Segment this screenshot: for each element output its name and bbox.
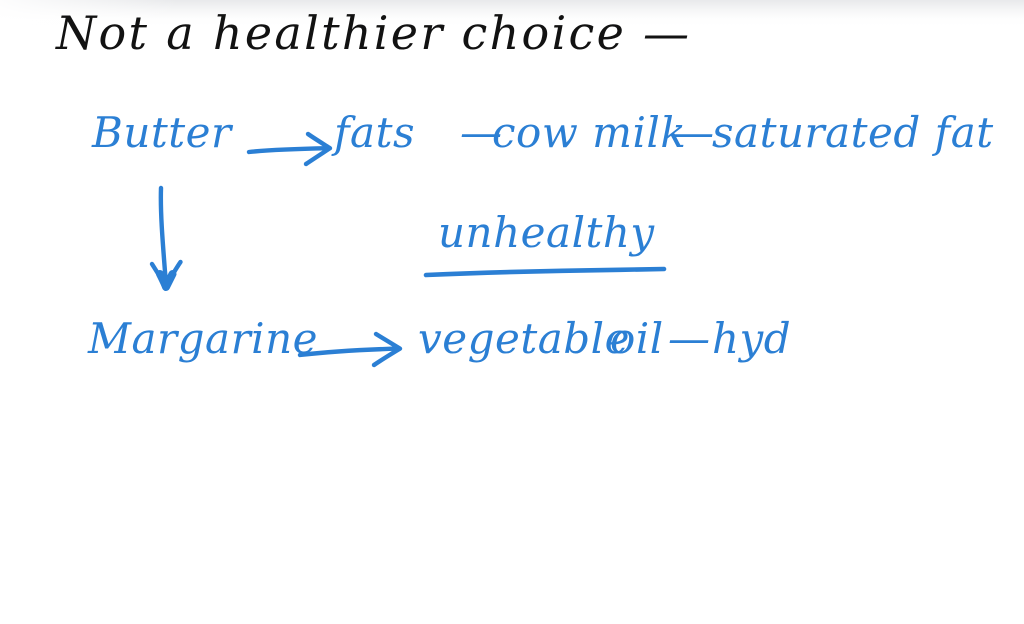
term-saturated-fat: saturated fat [712, 112, 994, 154]
page-title: Not a healthier choice — [56, 10, 691, 56]
term-butter: Butter [92, 112, 232, 154]
annotation-unhealthy: unhealthy [438, 212, 655, 254]
right-arrow-icon-butter [249, 134, 330, 164]
term-hyd: hyd [712, 318, 791, 360]
term-fats: fats [334, 112, 415, 154]
term-cow-milk: cow milk [492, 112, 686, 154]
handwritten-note-canvas: Not a healthier choice — Butter fats — c… [0, 0, 1024, 624]
term-oil: oil [610, 318, 664, 360]
term-margarine: Margarine [88, 318, 318, 360]
underline-unhealthy [426, 269, 664, 275]
ink-stroke-layer: fats --> Margarine --> vegetable oil --> [0, 0, 1024, 624]
down-arrow-icon [152, 188, 181, 287]
term-vegetable: vegetable [418, 318, 630, 360]
dash-separator-2: — [672, 112, 715, 154]
dash-separator-3: — [668, 318, 711, 360]
